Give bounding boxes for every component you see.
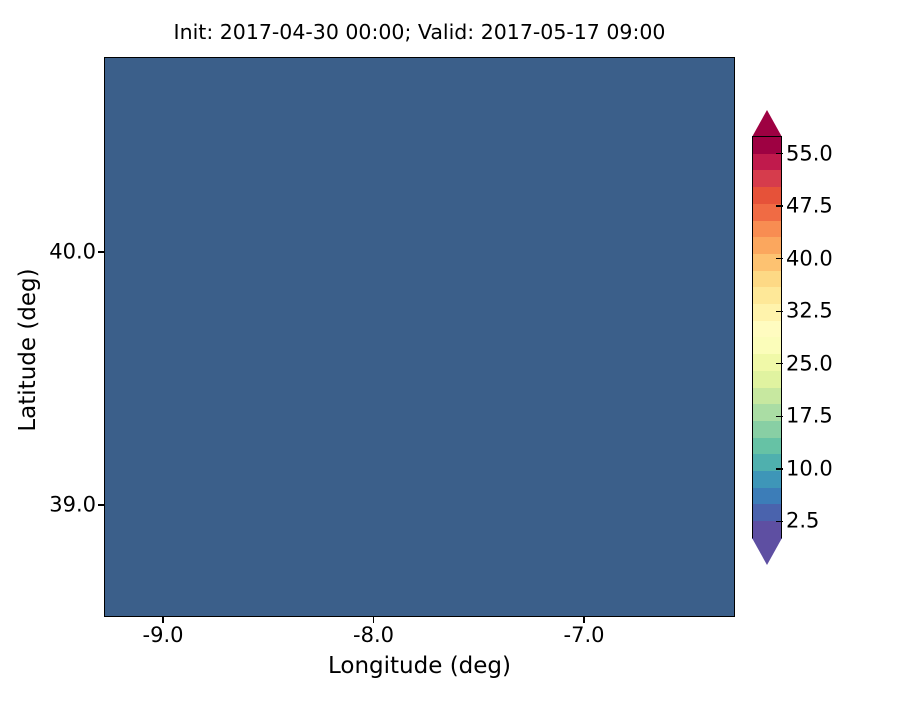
map-axes[interactable] bbox=[104, 57, 735, 617]
colorbar-band-7 bbox=[753, 254, 781, 271]
colorbar-band-20 bbox=[753, 471, 781, 488]
colorbar-band-1 bbox=[753, 154, 781, 171]
y-tick-label-1: 39.0 bbox=[20, 495, 96, 516]
colorbar-tick-label-0: 2.5 bbox=[786, 511, 819, 532]
colorbar-tick-label-7: 55.0 bbox=[786, 143, 833, 164]
colorbar-tick-mark-0 bbox=[776, 521, 783, 522]
colorbar-max-extension-arrow bbox=[752, 110, 782, 137]
colorbar-band-9 bbox=[753, 287, 781, 304]
colorbar-tick-mark-2 bbox=[776, 416, 783, 417]
colorbar-band-14 bbox=[753, 371, 781, 388]
colorbar-band-5 bbox=[753, 221, 781, 238]
colorbar-tick-mark-1 bbox=[776, 468, 783, 469]
wind-speed-contour-map bbox=[105, 58, 734, 616]
colorbar-band-10 bbox=[753, 304, 781, 321]
colorbar-tick-mark-3 bbox=[776, 363, 783, 364]
colorbar-tick-label-3: 25.0 bbox=[786, 353, 833, 374]
colorbar-tick-label-2: 17.5 bbox=[786, 406, 833, 427]
colorbar-band-2 bbox=[753, 170, 781, 187]
colorbar-tick-label-1: 10.0 bbox=[786, 458, 833, 479]
colorbar-tick-label-6: 47.5 bbox=[786, 196, 833, 217]
y-tick-mark-0 bbox=[98, 251, 104, 252]
y-tick-mark-1 bbox=[98, 504, 104, 505]
colorbar-min-extension-arrow bbox=[752, 538, 782, 565]
colorbar-band-15 bbox=[753, 388, 781, 405]
colorbar-band-3 bbox=[753, 187, 781, 204]
plot-title: Init: 2017-04-30 00:00; Valid: 2017-05-1… bbox=[104, 20, 735, 44]
colorbar-tick-mark-6 bbox=[776, 205, 783, 206]
figure-canvas: Init: 2017-04-30 00:00; Valid: 2017-05-1… bbox=[0, 0, 900, 700]
colorbar-band-16 bbox=[753, 404, 781, 421]
colorbar-tick-label-5: 40.0 bbox=[786, 248, 833, 269]
x-tick-mark-2 bbox=[583, 617, 584, 623]
colorbar-band-0 bbox=[753, 137, 781, 154]
colorbar-band-17 bbox=[753, 421, 781, 438]
x-tick-label-2: -7.0 bbox=[564, 625, 605, 646]
x-tick-label-1: -8.0 bbox=[353, 625, 394, 646]
colorbar-band-11 bbox=[753, 321, 781, 338]
colorbar-band-8 bbox=[753, 271, 781, 288]
colorbar-tick-mark-4 bbox=[776, 311, 783, 312]
y-axis-label: Latitude (deg) bbox=[15, 205, 41, 495]
x-tick-mark-1 bbox=[373, 617, 374, 623]
x-tick-label-0: -9.0 bbox=[143, 625, 184, 646]
colorbar-tick-mark-5 bbox=[776, 258, 783, 259]
colorbar-band-22 bbox=[753, 504, 781, 521]
colorbar-band-18 bbox=[753, 438, 781, 455]
x-tick-mark-0 bbox=[162, 617, 163, 623]
colorbar-band-21 bbox=[753, 488, 781, 505]
colorbar-band-12 bbox=[753, 337, 781, 354]
x-axis-label: Longitude (deg) bbox=[104, 653, 735, 679]
colorbar-gradient bbox=[752, 136, 782, 539]
colorbar-tick-label-4: 32.5 bbox=[786, 301, 833, 322]
colorbar-tick-mark-7 bbox=[776, 153, 783, 154]
colorbar-band-23 bbox=[753, 521, 781, 538]
colorbar[interactable] bbox=[752, 110, 782, 565]
colorbar-band-6 bbox=[753, 237, 781, 254]
